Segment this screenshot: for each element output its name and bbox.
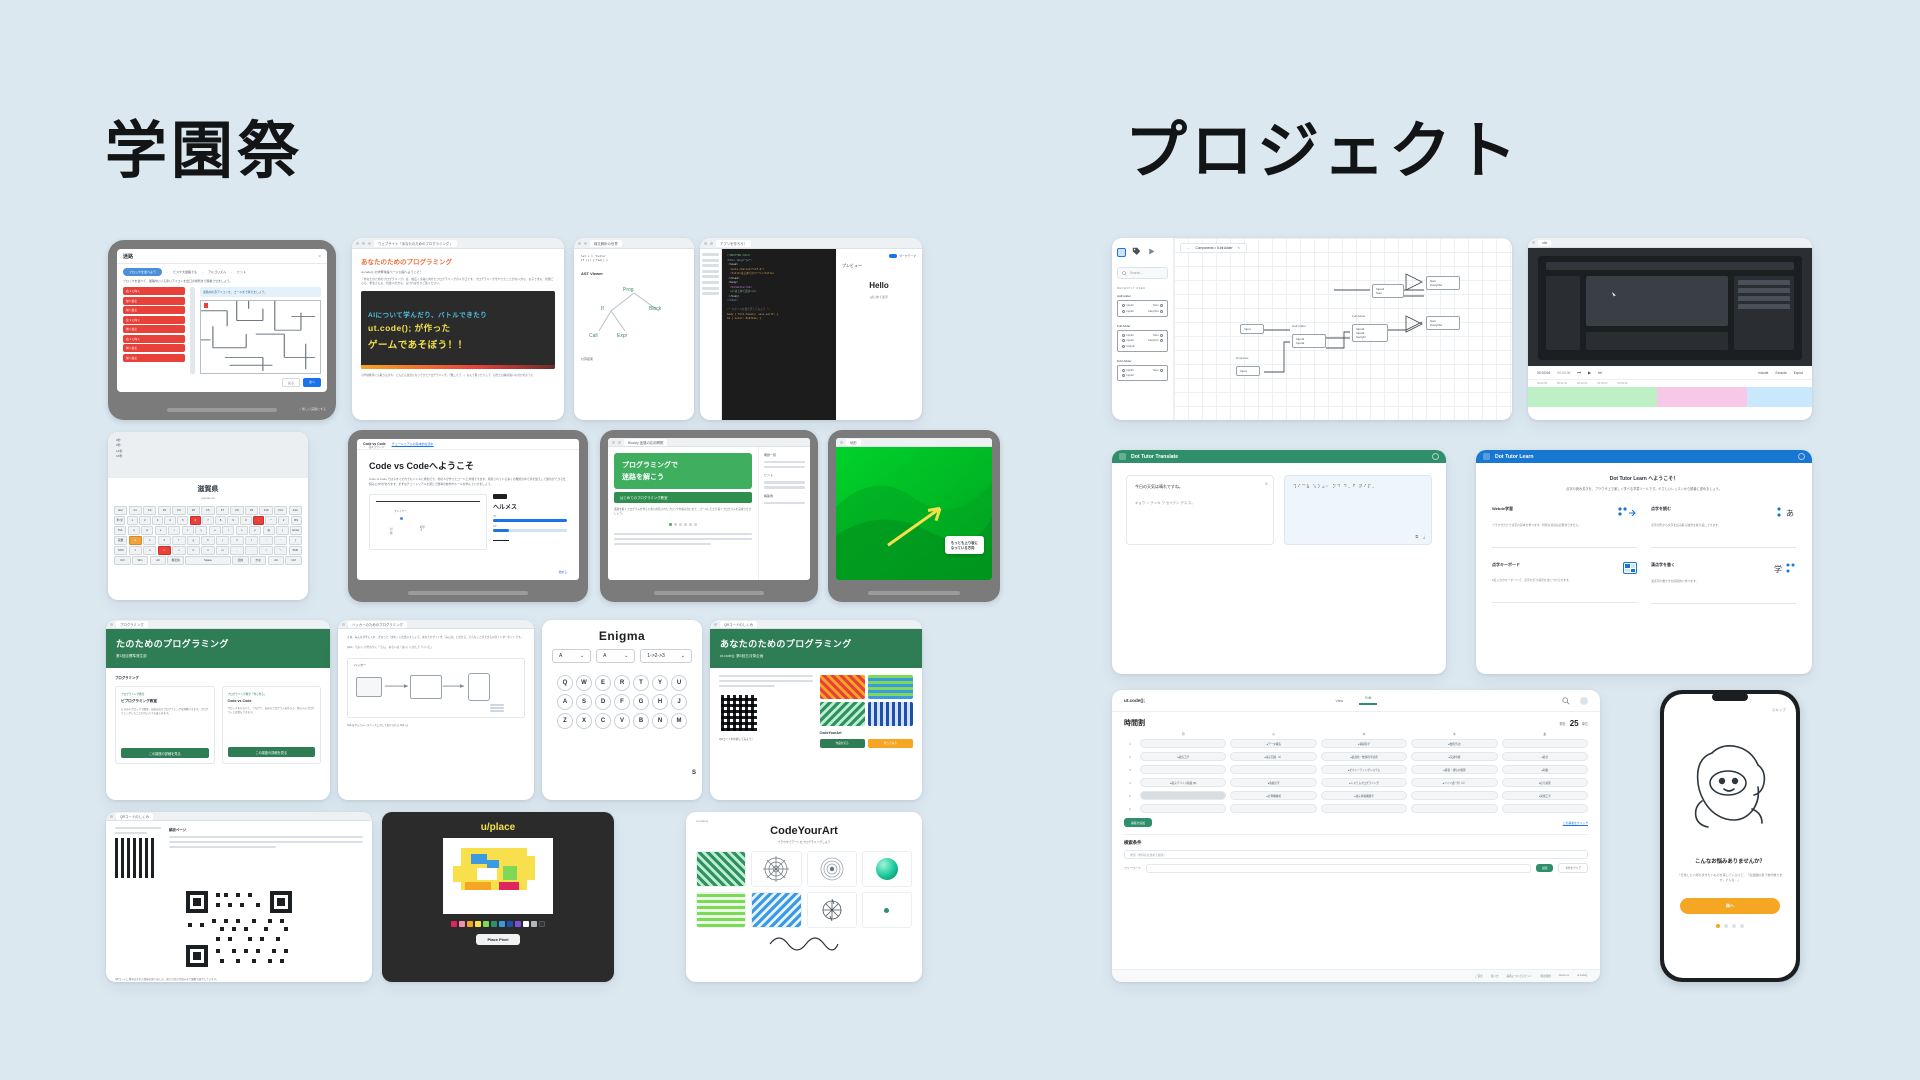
kb-key[interactable]: d	[158, 536, 171, 545]
kb-key[interactable]: F7	[216, 506, 229, 515]
palette-swatch[interactable]	[491, 921, 497, 927]
enigma-key[interactable]: Q	[557, 675, 573, 691]
play-icon[interactable]: ▶	[1588, 370, 1591, 375]
palette-swatch[interactable]	[523, 921, 529, 927]
tt-cell[interactable]	[1140, 739, 1226, 748]
palette-swatch[interactable]	[515, 921, 521, 927]
kb-key[interactable]: 4	[164, 516, 175, 525]
uplace-palette[interactable]	[382, 921, 614, 927]
nile-tab-title[interactable]: nile	[1538, 240, 1551, 246]
pin-icon[interactable]	[1160, 334, 1163, 337]
kb-key[interactable]: f	[172, 536, 185, 545]
kb-key[interactable]: i	[222, 526, 234, 535]
enigma-rotor-1[interactable]: A⌄	[596, 649, 635, 663]
art-thumb[interactable]	[868, 675, 913, 699]
tt-cell[interactable]: ●電磁気学	[1230, 778, 1316, 787]
tt-cell[interactable]: ●数理手法Ⅰ	[1411, 739, 1497, 748]
cvc-heading: Code vs Codeへようこそ	[369, 459, 567, 472]
braille-read-icon: あ	[1776, 506, 1796, 519]
circuit-search-box[interactable]: Search...	[1117, 267, 1168, 279]
phone-skip-button[interactable]: スキップ	[1772, 708, 1786, 713]
kb-key[interactable]: j	[216, 536, 229, 545]
dtl-tile-2[interactable]: 点字キーボード 6点入力のキーボードで、点字を打つ感覚を身につけられます。	[1492, 562, 1637, 604]
qrx-tab[interactable]: QRコードのしくみ	[116, 813, 153, 820]
tt-footer-link[interactable]: About us	[1559, 974, 1569, 978]
mg-tab-title[interactable]: Blockly 迷路の応用問題	[624, 439, 667, 446]
theme-toggle[interactable]	[889, 254, 897, 258]
maze-tab-2[interactable]: アルゴリズム	[208, 270, 226, 274]
pin-icon[interactable]	[1122, 304, 1125, 307]
kb-key[interactable]: 英数	[114, 536, 127, 545]
kb-key[interactable]: g	[187, 536, 200, 545]
kb-key[interactable]: o	[236, 526, 248, 535]
palette-swatch[interactable]	[467, 921, 473, 927]
maze-scrollbar[interactable]	[190, 287, 195, 374]
tt-cell[interactable]: ●統計	[1502, 752, 1588, 761]
table-row: 5 ●計算機構成 ●電子情報機器学 ●知能工学	[1124, 791, 1588, 800]
card-maze-green-device[interactable]: Blockly 迷路の応用問題 プログラミングで 迷路を解こう はじめてのプログ…	[600, 430, 818, 602]
maze-tab-1[interactable]: ビスケ大迷路でも	[173, 270, 197, 274]
card-terrain-device[interactable]: 地形 もっ	[828, 430, 1000, 602]
kb-key[interactable]: Alt	[268, 556, 285, 565]
card-course-1[interactable]: プログラミング たのためのプログラミング 第1回目標準発生部 プログラミング プ…	[106, 620, 330, 800]
pin-icon[interactable]	[1122, 374, 1125, 377]
kb-key[interactable]: ]	[289, 536, 302, 545]
cvc-next[interactable]: 始める	[559, 570, 567, 574]
phone-next-button[interactable]: 無へ	[1680, 898, 1780, 914]
nile-include-button[interactable]: Include	[1758, 371, 1768, 375]
dtl-tile-1[interactable]: 点字を読む あ 点字の形から文字を読み取る練習を繰り返しできます。	[1651, 506, 1796, 548]
card-keyboard-jp[interactable]: 0秒 0秒 12秒 18秒 滋賀県 jp/gakensi Esc F1 F2 F…	[108, 432, 308, 600]
cya-thumb[interactable]	[862, 851, 912, 887]
kb-key[interactable]: 9	[227, 516, 238, 525]
pin-icon[interactable]	[1122, 310, 1125, 313]
enigma-key[interactable]: C	[595, 713, 611, 729]
tt-search-input[interactable]	[1146, 864, 1531, 873]
skip-forward-icon[interactable]: ⏭	[1598, 370, 1602, 375]
cvc-nav[interactable]: チュートリアルの基本的な流れ	[392, 442, 434, 446]
tt-cell[interactable]: ●計算機構成	[1230, 791, 1316, 800]
palette-swatch[interactable]	[499, 921, 505, 927]
maze-block[interactable]: 前へ進む	[123, 306, 185, 314]
kb-key[interactable]: s	[143, 536, 156, 545]
kb-key[interactable]: BS	[291, 516, 302, 525]
tt-cell[interactable]: ●データ構造	[1230, 739, 1316, 748]
maze-block[interactable]: 右 ▾ に向く	[123, 335, 185, 343]
tt-cell[interactable]	[1140, 791, 1226, 800]
mg-right-0[interactable]: 問題一覧	[764, 453, 805, 457]
clear-icon[interactable]: ⊗	[1265, 481, 1268, 486]
kb-key[interactable]: ＼	[274, 546, 287, 555]
palette-swatch[interactable]	[483, 921, 489, 927]
c2-btn-1[interactable]: 作ってみる	[868, 739, 913, 748]
enigma-key[interactable]: V	[614, 713, 630, 729]
tt-cell[interactable]: ●オペレーティングシステム	[1321, 765, 1407, 774]
kb-key[interactable]: :	[274, 536, 287, 545]
kb-key[interactable]: 無変換	[167, 556, 184, 565]
kb-key[interactable]: .	[245, 546, 258, 555]
card-app-builder[interactable]: アプリを作ろう！ <!DOCTYPE html> <html lang="ja"…	[700, 238, 922, 420]
enigma-key[interactable]: D	[595, 694, 611, 710]
enigma-key[interactable]: M	[671, 713, 687, 729]
kb-key[interactable]: p	[249, 526, 261, 535]
kb-key[interactable]: b	[187, 546, 200, 555]
maze-block[interactable]: 左 ▾ に向く	[123, 316, 185, 324]
cya-thumb[interactable]	[807, 851, 857, 887]
timeline-clip[interactable]	[1657, 387, 1747, 407]
builder-code-area[interactable]: <!DOCTYPE html> <html lang="ja"> <head> …	[722, 249, 836, 420]
enigma-keyboard[interactable]: Q W E R T Y U A S D F G H J Z X C V	[542, 671, 702, 736]
tt-cell[interactable]: ●最適化・数値科学演習	[1321, 752, 1407, 761]
dtl-tile-0[interactable]: Webde学習 ブラウザだけで点字の基本を学べます。特別な道具は必要ありません。	[1492, 506, 1637, 548]
palette-swatch[interactable]	[539, 921, 545, 927]
tt-cell[interactable]: ●システムプログラミング	[1321, 778, 1407, 787]
kb-key[interactable]: r	[168, 526, 180, 535]
tt-cell[interactable]: ●電気工学	[1140, 752, 1226, 761]
palette-item-full-adder[interactable]: Full Adder Input1 Sum Input2 CarryOut Ca…	[1117, 324, 1168, 352]
tt-cell[interactable]	[1140, 804, 1226, 813]
maze-block[interactable]: 前へ進む	[123, 325, 185, 333]
terrain-tab-title[interactable]: 地形	[846, 439, 861, 446]
tt-link[interactable]: この講義をクリック	[1563, 821, 1588, 825]
tt-cell[interactable]	[1502, 739, 1588, 748]
help-icon[interactable]	[1432, 453, 1439, 460]
skip-back-icon[interactable]: ⏮	[1577, 370, 1581, 375]
tt-cell[interactable]: ●英語中級	[1411, 752, 1497, 761]
tag-icon[interactable]	[1132, 243, 1141, 261]
maze-back-button[interactable]: 戻る	[282, 378, 300, 387]
tt-cell[interactable]	[1230, 765, 1316, 774]
maze-block[interactable]: 前へ進む	[123, 354, 185, 362]
tt-search-button[interactable]: 検索	[1536, 864, 1553, 872]
card-hacker[interactable]: ハッカーのためのプログラミング さあ、みんなが手に入れ、ぎゅっと「あれ」に出会い…	[338, 620, 534, 800]
kb-key[interactable]: Ctrl	[285, 556, 302, 565]
tt-cell[interactable]: ●電子回路（1）	[1230, 752, 1316, 761]
maze-block-stack[interactable]: 右 ▾ に向く 前へ進む 前へ進む 左 ▾ に向く 前へ進む 右 ▾ に向く 前…	[123, 287, 185, 374]
tt-cell[interactable]: ●情報科学	[1321, 739, 1407, 748]
table-row: 2 ●電気工学 ●電子回路（1） ●最適化・数値科学演習 ●英語中級 ●統計	[1124, 752, 1588, 761]
pager-dot[interactable]	[1740, 924, 1744, 928]
tt-clear-button[interactable]: 条件をクリア	[1558, 863, 1588, 873]
kb-key[interactable]: Shift	[114, 546, 127, 555]
enigma-key[interactable]: U	[671, 675, 687, 691]
kb-key[interactable]: t	[182, 526, 194, 535]
c1-card-1[interactable]: プログラミング教室「作ら作る」 Code vs Code ブロックをならべて、つ…	[222, 686, 322, 764]
kb-key[interactable]: F10	[259, 506, 272, 515]
tt-footer-link[interactable]: 使い方	[1491, 974, 1499, 978]
kb-key[interactable]: y	[195, 526, 207, 535]
kb-key[interactable]: ¥	[278, 516, 289, 525]
enigma-key[interactable]: R	[614, 675, 630, 691]
maze-tab-0[interactable]: ブロックを並べよう	[123, 268, 162, 276]
enigma-key[interactable]: A	[557, 694, 573, 710]
c1-card-1-btn[interactable]: この講座の詳細を見る	[228, 747, 316, 757]
tt-cell[interactable]: ●ドイツ語一列（2）	[1411, 778, 1497, 787]
maze-close-icon[interactable]: ×	[318, 254, 321, 260]
enigma-key[interactable]: W	[576, 675, 592, 691]
enigma-key[interactable]: S	[576, 694, 592, 710]
tt-cell[interactable]: ●信号処理	[1502, 778, 1588, 787]
kb-key[interactable]: ;	[259, 536, 272, 545]
enigma-key[interactable]: X	[576, 713, 592, 729]
kb-key[interactable]: 5	[177, 516, 188, 525]
tt-footer-link[interactable]: ut.code();	[1577, 974, 1588, 978]
kb-key[interactable]: 変換	[232, 556, 249, 565]
c1-card-0-btn[interactable]: この講座の詳細を見る	[121, 748, 209, 758]
maze-block[interactable]: 前へ進む	[123, 297, 185, 305]
kb-key[interactable]: F8	[230, 506, 243, 515]
kb-key[interactable]: Ctrl	[114, 556, 131, 565]
enigma-order[interactable]: 1->2->3⌄	[640, 649, 692, 663]
kb-key[interactable]: h	[201, 536, 214, 545]
card-website-promo[interactable]: ウェブサイト「あなたのためのプログラミング」 あなたのためのプログラミング ut…	[352, 238, 564, 420]
palette-swatch[interactable]	[451, 921, 457, 927]
nile-timeline[interactable]	[1528, 387, 1812, 407]
kb-key[interactable]: 0	[240, 516, 251, 525]
kb-key[interactable]: [	[276, 526, 288, 535]
kb-key[interactable]: Enter	[290, 526, 302, 535]
tt-cell[interactable]: ●電子デバイス基礎 (B)	[1140, 778, 1226, 787]
terrain-canvas[interactable]: もっとも上り坂に なっている方向	[836, 447, 992, 580]
uplace-place-button[interactable]: Place Pixel	[476, 934, 521, 945]
card-enigma[interactable]: Enigma A⌄ A⌄ 1->2->3⌄ Q W E R T Y U	[542, 620, 702, 800]
card-code-vs-code-device[interactable]: Code vs Code チュートリアルの基本的な流れ Code vs Code…	[348, 430, 588, 602]
pin-icon[interactable]	[1122, 369, 1125, 372]
tt-tab-view[interactable]: View	[1330, 699, 1350, 703]
kb-key[interactable]: u	[209, 526, 221, 535]
enigma-key[interactable]: H	[652, 694, 668, 710]
tt-cell[interactable]: ●情報・通信の数理	[1411, 765, 1497, 774]
promo-video[interactable]: AIについて学んだり、バトルできたり ut.code(); が作った ゲームであ…	[361, 291, 555, 369]
tt-footer-link[interactable]: ご意見	[1475, 974, 1483, 978]
enigma-key[interactable]: E	[595, 675, 611, 691]
kb-key[interactable]: 6	[190, 516, 201, 525]
enigma-key[interactable]: N	[652, 713, 668, 729]
c2-btn-0[interactable]: 作品を見る	[820, 739, 865, 748]
kb-key[interactable]: F9	[245, 506, 258, 515]
card-ast-viewer[interactable]: 構文解析の世界 let x = 'hello' if (x) { foo() }…	[574, 238, 694, 420]
enigma-key[interactable]: B	[633, 713, 649, 729]
pin-icon[interactable]	[1122, 345, 1125, 348]
card-circuit-editor[interactable]: Search... RECENTLY USED Half Adder Input…	[1112, 238, 1512, 420]
palette-swatch[interactable]	[475, 921, 481, 927]
kb-key[interactable]: l	[245, 536, 258, 545]
kb-key[interactable]: e	[155, 526, 167, 535]
help-icon[interactable]	[1798, 453, 1805, 460]
mg-right-1[interactable]: ヒント	[764, 473, 805, 477]
pin-icon[interactable]	[1160, 304, 1163, 307]
cya-thumb[interactable]	[696, 851, 746, 887]
palette-swatch[interactable]	[507, 921, 513, 927]
phone-screen[interactable]: スキップ こん	[1664, 694, 1796, 978]
cvc-right-player: ヘルメス	[493, 502, 567, 511]
card-video-editor[interactable]: nile 00:03.06 00:03.06 ⏮ ▶ ⏭	[1528, 238, 1812, 420]
kb-key[interactable]: x	[143, 546, 156, 555]
timeline-clip[interactable]	[1528, 387, 1657, 407]
kb-key[interactable]: Shift	[289, 546, 302, 555]
enigma-key[interactable]: J	[671, 694, 687, 710]
art-thumb[interactable]	[868, 702, 913, 726]
builder-tab-title[interactable]: アプリを作ろう！	[716, 240, 751, 247]
dtt-input-text[interactable]: 今日の天気は晴れですね。	[1135, 484, 1265, 490]
kb-key[interactable]: かな	[250, 556, 267, 565]
palette-item-half-adder[interactable]: Half Adder Input1 Sum Input2 CarryOut	[1117, 294, 1168, 317]
kb-key[interactable]: c	[158, 546, 171, 555]
maze-tab-3[interactable]: ヒント	[237, 270, 246, 274]
pager-dot[interactable]	[1732, 924, 1736, 928]
tt-cell[interactable]	[1411, 791, 1497, 800]
promo-tab-title[interactable]: ウェブサイト「あなたのためのプログラミング」	[374, 240, 457, 247]
kb-key[interactable]: w	[141, 526, 153, 535]
timeline-clip[interactable]	[1747, 387, 1812, 407]
palette-item-8bit-adder[interactable]: 8-bit Adder Input1 Sum Input2	[1117, 359, 1168, 382]
cya-thumb[interactable]	[696, 892, 746, 928]
kb-key[interactable]: z	[129, 546, 142, 555]
cya-thumb[interactable]	[807, 892, 857, 928]
tt-cell[interactable]: ●知能工学	[1502, 791, 1588, 800]
ast-code[interactable]: let x = 'hello' if (x) { foo() }	[581, 255, 687, 264]
kb-key[interactable]: 2	[139, 516, 150, 525]
tt-tab-edit[interactable]: Edit	[1359, 696, 1377, 705]
enigma-rotor-0[interactable]: A⌄	[552, 649, 591, 663]
card-dot-tutor-learn[interactable]: Dot Tutor Learn Dot Tutor Learn へようこそ！ 点…	[1476, 450, 1812, 674]
enigma-key[interactable]: Z	[557, 713, 573, 729]
kb-key[interactable]: q	[128, 526, 140, 535]
svg-text:Prog: Prog	[623, 287, 634, 293]
kb-key[interactable]: F5	[187, 506, 200, 515]
promo-video-progress[interactable]	[361, 365, 555, 369]
kb-key[interactable]: Win	[132, 556, 149, 565]
kb-key[interactable]: F3	[158, 506, 171, 515]
art-thumb[interactable]	[820, 702, 865, 726]
tt-cell[interactable]: ●制御	[1502, 765, 1588, 774]
c2-tab[interactable]: QRコードのしくみ	[720, 621, 757, 628]
tt-cell[interactable]	[1321, 804, 1407, 813]
card-qr-explainer[interactable]: QRコードのしくみ 解説ページ	[106, 812, 372, 982]
tt-cell[interactable]	[1502, 804, 1588, 813]
tt-cell[interactable]	[1140, 765, 1226, 774]
dtl-tile-3[interactable]: 漢点字を書く 学 漢点字の書き方を段階的に学べます。	[1651, 562, 1796, 604]
pin-icon[interactable]	[1122, 339, 1125, 342]
enigma-key[interactable]: T	[633, 675, 649, 691]
circuit-sidebar[interactable]: Search... RECENTLY USED Half Adder Input…	[1112, 238, 1174, 420]
kb-key[interactable]: F1	[129, 506, 142, 515]
card-uplace[interactable]: u/place	[382, 812, 614, 982]
pin-icon[interactable]	[1160, 339, 1163, 342]
palette-swatch[interactable]	[531, 921, 537, 927]
palette-swatch[interactable]	[459, 921, 465, 927]
kb-key-space[interactable]: Space	[185, 556, 231, 565]
dtt-input-box[interactable]: 今日の天気は晴れですね。 キョウ ノ テンキ ワ セイテン デス ネ。 ⊗	[1126, 475, 1274, 545]
enigma-key[interactable]: G	[633, 694, 649, 710]
kb-key[interactable]: Alt	[150, 556, 167, 565]
ast-tab-title[interactable]: 構文解析の世界	[590, 240, 622, 247]
card-codeyourart[interactable]: ut.code(); CodeYourArt ブラウザでアートをプログラミングし…	[686, 812, 922, 982]
download-icon[interactable]: ⤓	[1423, 534, 1425, 539]
kb-key[interactable]: F4	[172, 506, 185, 515]
nile-viewport[interactable]	[1528, 248, 1812, 366]
card-course-2[interactable]: QRコードのしくみ あなたのためのプログラミング ut.code(); 第5回五…	[710, 620, 922, 800]
c1-tab[interactable]: プログラミング	[116, 621, 148, 628]
pin-icon[interactable]	[1160, 369, 1163, 372]
kb-key[interactable]: k	[230, 536, 243, 545]
kb-key[interactable]: ,	[230, 546, 243, 555]
maze-next-button[interactable]: 次へ	[303, 378, 321, 387]
kb-key[interactable]: n	[201, 546, 214, 555]
circuit-canvas[interactable]: ← Components > 8-bit Adder ✎ Input1Input…	[1174, 238, 1512, 420]
pin-icon[interactable]	[1122, 334, 1125, 337]
kb-key[interactable]: 7	[202, 516, 213, 525]
tt-footer-link[interactable]: 講義についてのヒント	[1507, 974, 1533, 978]
kb-key[interactable]: 1	[127, 516, 138, 525]
enigma-key[interactable]: Y	[652, 675, 668, 691]
kb-key[interactable]: Tab	[114, 526, 126, 535]
kb-key[interactable]: ^	[265, 516, 276, 525]
art-thumb[interactable]	[820, 675, 865, 699]
kb-key[interactable]: /	[259, 546, 272, 555]
hk-tab[interactable]: ハッカーのためのプログラミング	[348, 621, 407, 628]
run-icon[interactable]	[1147, 243, 1156, 261]
kb-key[interactable]: 半/全	[114, 516, 125, 525]
tt-period: 2	[1124, 752, 1136, 761]
maze-block[interactable]: 右 ▾ に向く	[123, 287, 185, 295]
enigma-key[interactable]: F	[614, 694, 630, 710]
avatar[interactable]	[1580, 697, 1588, 705]
tt-cell[interactable]	[1411, 804, 1497, 813]
card-maze-device[interactable]: 迷路 × ブロックを並べよう › ビスケ大迷路でも › アルゴリズム › ヒント…	[108, 240, 336, 420]
kb-key[interactable]: 8	[215, 516, 226, 525]
kb-key[interactable]: F11	[274, 506, 287, 515]
tt-brand[interactable]: ut.code();	[1124, 698, 1145, 703]
copy-icon[interactable]: ⧉	[1415, 534, 1418, 539]
kb-key[interactable]: Esc	[114, 506, 127, 515]
tt-cell[interactable]	[1230, 804, 1316, 813]
kb-key[interactable]: -	[253, 516, 264, 525]
components-tool-icon[interactable]	[1117, 248, 1126, 257]
cya-thumb[interactable]	[751, 851, 801, 887]
tt-footer-link[interactable]: 利用規約	[1540, 974, 1550, 978]
cya-thumb[interactable]	[751, 892, 801, 928]
kb-key[interactable]: F6	[201, 506, 214, 515]
c1-card-0[interactable]: プログラミング教室 ビプログラミング教室 ビタ方のブロックで簡単、自由自在なプロ…	[115, 686, 215, 764]
qrx-small-qr	[115, 838, 155, 878]
nile-export-button[interactable]: Export	[1794, 371, 1803, 375]
kb-key[interactable]: F12	[289, 506, 302, 515]
tt-cell[interactable]: ●電子情報機器学	[1321, 791, 1407, 800]
tt-add-button[interactable]: 講義を追加	[1124, 818, 1152, 827]
card-dot-tutor-translate[interactable]: Dot Tutor Translate 今日の天気は晴れですね。 キョウ ノ テ…	[1112, 450, 1446, 674]
kb-keyboard[interactable]: Esc F1 F2 F3 F4 F5 F6 F7 F8 F9 F10 F11 F…	[108, 502, 308, 570]
kb-key[interactable]: a	[129, 536, 142, 545]
phone-pager-dots[interactable]	[1664, 924, 1796, 928]
card-timetable[interactable]: ut.code(); View Edit 時間割 現在 25 単位 月 火 水 …	[1112, 690, 1600, 982]
mg-right-2[interactable]: 解答例	[764, 494, 805, 498]
c1-header: たのためのプログラミング 第1回目標準発生部	[106, 629, 330, 668]
maze-block[interactable]: 前へ進む	[123, 344, 185, 352]
pager-dot[interactable]	[1716, 924, 1720, 928]
kb-key[interactable]: v	[172, 546, 185, 555]
card-phone-app[interactable]: スキップ こん	[1660, 690, 1800, 982]
kb-key[interactable]: 3	[152, 516, 163, 525]
nile-exclude-button[interactable]: Exclude	[1775, 371, 1786, 375]
pager-dot[interactable]	[1724, 924, 1728, 928]
kb-key[interactable]: F2	[143, 506, 156, 515]
kb-key[interactable]: @	[263, 526, 275, 535]
kb-key[interactable]: m	[216, 546, 229, 555]
pin-icon[interactable]	[1160, 310, 1163, 313]
tt-search-field-0[interactable]: 学部（学科名を含めて検索）	[1124, 850, 1588, 859]
cya-thumb[interactable]	[862, 892, 912, 928]
